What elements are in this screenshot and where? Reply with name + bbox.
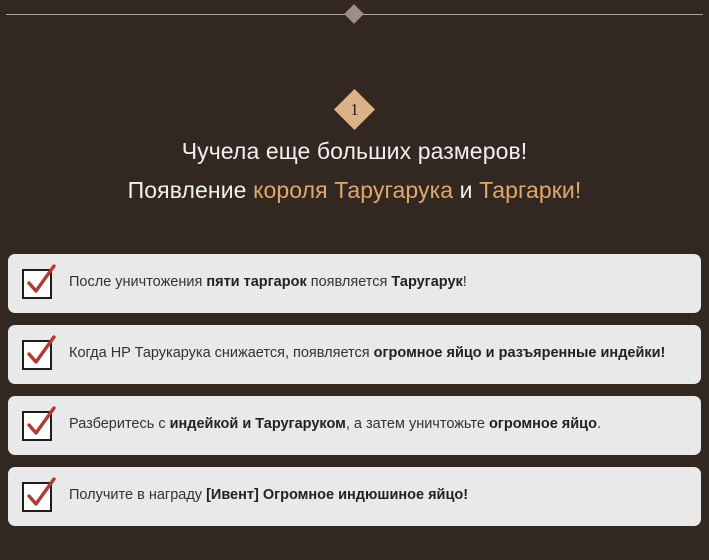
subtitle-highlight-king: короля Таругарука: [253, 177, 453, 203]
badge-number: 1: [340, 95, 369, 124]
subtitle-part-2: и: [453, 177, 479, 203]
checklist-item-text: Когда HP Тарукарука снижается, появляетс…: [52, 338, 687, 365]
text-segment: Получите в награду: [69, 487, 206, 503]
text-segment: !: [463, 274, 467, 290]
top-ornament: [0, 0, 709, 30]
headline-block: Чучела еще больших размеров! Появление к…: [0, 136, 709, 205]
text-segment: После уничтожения: [69, 274, 206, 290]
chevron-down-icon: [346, 14, 362, 23]
text-emphasis: огромное яйцо и разъяренные индейки!: [374, 345, 666, 361]
checklist-item[interactable]: Разберитесь с индейкой и Таругаруком, а …: [8, 396, 701, 455]
text-emphasis: пяти таргарок: [206, 274, 306, 290]
badge-diamond-shape: 1: [334, 89, 375, 130]
text-emphasis: [Ивент] Огромное индюшиное яйцо!: [206, 487, 468, 503]
page-title: Чучела еще больших размеров!: [0, 136, 709, 166]
text-emphasis: индейкой и Таругаруком: [170, 416, 346, 432]
text-segment: появляется: [307, 274, 392, 290]
step-badge: 1: [0, 92, 709, 132]
text-segment: .: [597, 416, 601, 432]
page-subtitle: Появление короля Таругарука и Таргарки!: [0, 175, 709, 205]
subtitle-highlight-targarka: Таргарки!: [479, 177, 581, 203]
checklist-item-text: Получите в награду [Ивент] Огромное индю…: [52, 480, 687, 507]
checklist-item-text: Разберитесь с индейкой и Таругаруком, а …: [52, 409, 687, 436]
text-segment: Разберитесь с: [69, 416, 170, 432]
text-emphasis: Таругарук: [391, 274, 462, 290]
checklist-item[interactable]: Когда HP Тарукарука снижается, появляетс…: [8, 325, 701, 384]
text-segment: , а затем уничтожьте: [346, 416, 489, 432]
checklist-item[interactable]: После уничтожения пяти таргарок появляет…: [8, 254, 701, 313]
checkbox-checked-icon[interactable]: [22, 482, 52, 512]
checkbox-checked-icon[interactable]: [22, 411, 52, 441]
text-emphasis: огромное яйцо: [489, 416, 597, 432]
checklist-item[interactable]: Получите в награду [Ивент] Огромное индю…: [8, 467, 701, 526]
subtitle-part-1: Появление: [128, 177, 253, 203]
objective-checklist: После уничтожения пяти таргарок появляет…: [8, 254, 701, 538]
checkbox-checked-icon[interactable]: [22, 269, 52, 299]
checkbox-checked-icon[interactable]: [22, 340, 52, 370]
checklist-item-text: После уничтожения пяти таргарок появляет…: [52, 267, 687, 294]
text-segment: Когда HP Тарукарука снижается, появляетс…: [69, 345, 374, 361]
